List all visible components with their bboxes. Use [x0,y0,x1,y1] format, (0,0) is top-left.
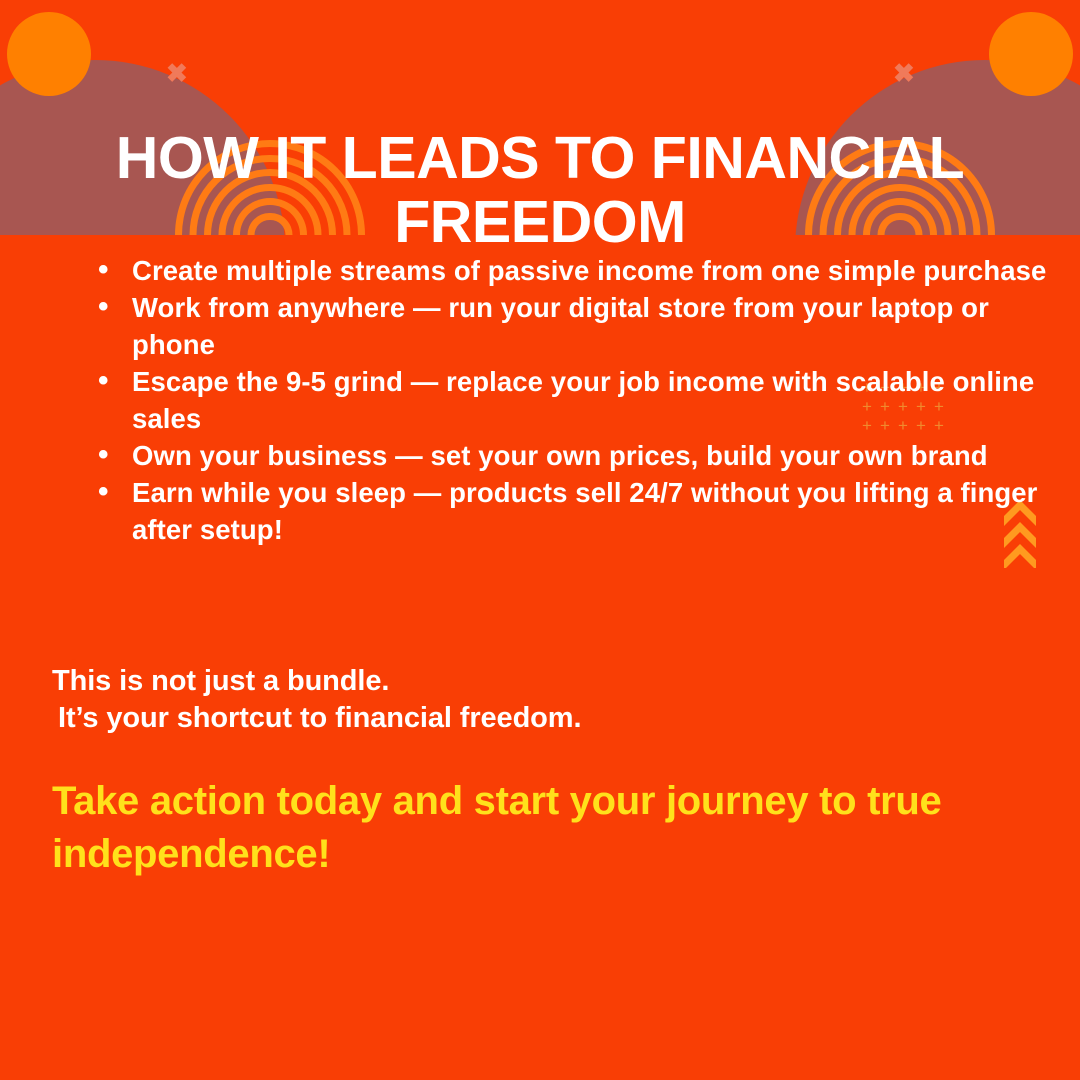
benefits-list: Create multiple streams of passive incom… [64,252,1063,548]
sun-circle-left-icon [7,12,91,96]
sun-circle-right-icon [989,12,1073,96]
call-to-action-text: Take action today and start your journey… [52,775,1012,881]
closing-line-2: It’s your shortcut to financial freedom. [52,700,992,737]
page-title: HOW IT LEADS TO FINANCIAL FREEDOM [90,126,990,254]
closing-line-1: This is not just a bundle. [52,663,992,700]
list-item: Own your business — set your own prices,… [98,437,1063,474]
list-item: Escape the 9-5 grind — replace your job … [98,363,1063,437]
x-sparkle-left-icon: ✖ [166,60,188,86]
list-item: Work from anywhere — run your digital st… [98,289,1063,363]
poster-slide: ✖ ✖ HOW IT LEADS TO FINANCIAL FREEDOM ++… [0,0,1080,1080]
closing-statement: This is not just a bundle. It’s your sho… [52,663,992,737]
x-sparkle-right-icon: ✖ [893,60,915,86]
list-item: Earn while you sleep — products sell 24/… [98,474,1063,548]
list-item: Create multiple streams of passive incom… [98,252,1063,289]
